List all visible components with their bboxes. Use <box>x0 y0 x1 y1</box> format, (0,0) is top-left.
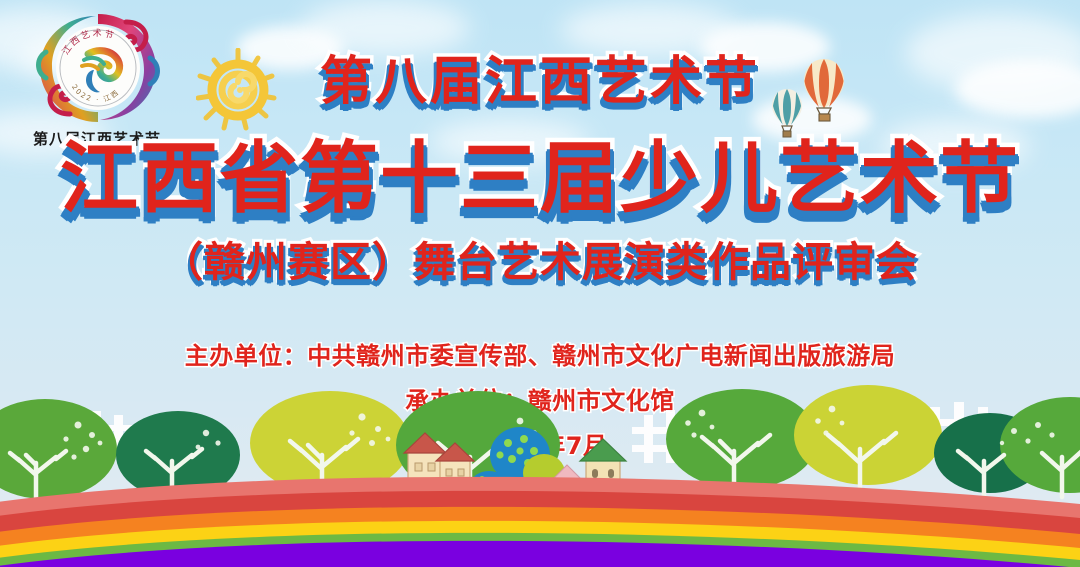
credit-host: 主办单位：中共赣州市委宣传部、赣州市文化广电新闻出版旅游局 <box>0 336 1080 371</box>
title-line-3-subtitle: （赣州赛区）舞台艺术展演类作品评审会 <box>0 242 1080 283</box>
poster-canvas: 江西艺术节 2022 · 江西 第八届江西艺术节 <box>0 0 1080 567</box>
title-line-1: 第八届江西艺术节 <box>0 56 1080 108</box>
cloud-icon <box>300 0 470 56</box>
rainbow-hill <box>0 477 1080 567</box>
landscape-scene <box>0 377 1080 567</box>
title-line-2-main: 江西省第十三届少儿艺术节 <box>0 140 1080 218</box>
